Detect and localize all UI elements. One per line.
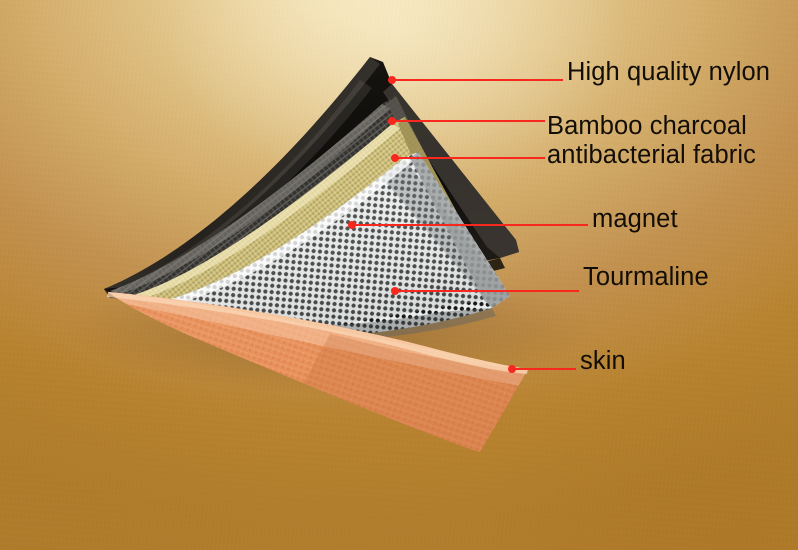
leader-dot-tourmaline bbox=[391, 287, 399, 295]
leader-dot-magnet bbox=[348, 221, 356, 229]
product-layer-diagram: High quality nylon Bamboo charcoal antib… bbox=[0, 0, 798, 550]
cutaway-illustration bbox=[0, 0, 798, 550]
leader-dot-nylon bbox=[388, 76, 396, 84]
leader-dot-bamboo bbox=[388, 117, 396, 125]
leader-dot-skin bbox=[508, 365, 516, 373]
leader-dot-bamboo-low bbox=[391, 154, 399, 162]
